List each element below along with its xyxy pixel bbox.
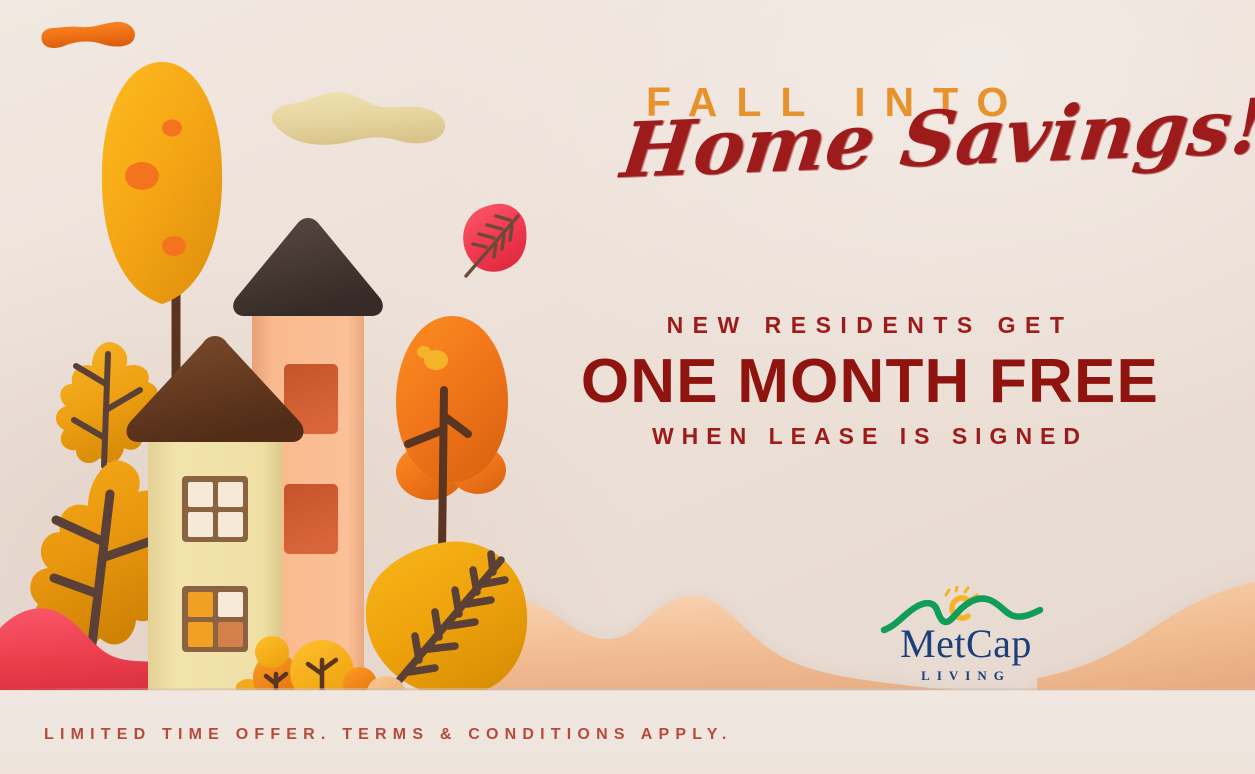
tree-canopy-orange xyxy=(384,312,520,552)
disclaimer-text: LIMITED TIME OFFER. TERMS & CONDITIONS A… xyxy=(44,726,733,744)
promo-banner: FALL INTO Home Savings! NEW RESIDENTS GE… xyxy=(0,0,1255,774)
cloud-orange-icon xyxy=(38,16,138,56)
metcap-logo: MetCap LIVING xyxy=(880,586,1052,692)
headline-group: FALL INTO Home Savings! xyxy=(620,82,1120,212)
cloud-cream-icon xyxy=(268,88,450,150)
headline-script-line: Home Savings! xyxy=(617,94,1127,189)
dune-right xyxy=(1037,574,1255,702)
offer-block: NEW RESIDENTS GET ONE MONTH FREE WHEN LE… xyxy=(540,312,1200,450)
tree-canopy-yellow xyxy=(98,60,226,310)
offer-headline: ONE MONTH FREE xyxy=(540,351,1200,413)
offer-subtext: WHEN LEASE IS SIGNED xyxy=(540,423,1200,450)
leaf-red xyxy=(452,200,530,286)
offer-eyebrow: NEW RESIDENTS GET xyxy=(540,312,1200,339)
metcap-wordmark: MetCap xyxy=(880,624,1052,664)
metcap-tagline: LIVING xyxy=(880,668,1052,684)
